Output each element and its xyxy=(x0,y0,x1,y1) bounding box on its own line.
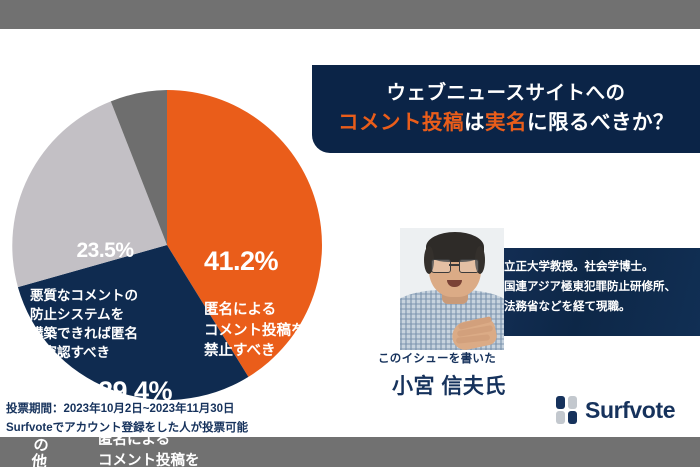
expert-profile-text: 立正大学教授。社会学博士。 国連アジア極東犯罪防止研修所、 法務省などを経て現職… xyxy=(504,258,700,317)
expert-byline: このイシューを書いた 小宮 信夫氏 xyxy=(378,350,506,400)
mark-quadrant-bottom-left xyxy=(556,411,565,424)
letterbox-top xyxy=(0,0,700,29)
voting-period-note: 投票期間：2023年10月2日~2023年11月30日 Surfvoteでアカウ… xyxy=(6,400,248,437)
title-accent-realname: 実名 xyxy=(485,111,527,134)
title-line-1: ウェブニュースサイトへの xyxy=(386,79,625,108)
byline-name: 小宮 信夫氏 xyxy=(392,370,506,400)
title-banner: ウェブニュースサイトへの コメント投稿は実名に限るべきか？ xyxy=(312,65,700,153)
surfvote-wordmark: Surfvote xyxy=(585,397,675,424)
screenshot-canvas: 41.2% 匿名による コメント投稿を 禁止すべき 29.4% 匿名による コメ… xyxy=(0,0,700,467)
photo-glasses-left xyxy=(431,259,451,273)
pie-label-lightgray: 23.5% 悪質なコメントの 防止システムを 構築できれば匿名 を容認すべき xyxy=(30,218,180,382)
photo-glasses-bridge xyxy=(449,264,459,266)
title-plain-tail: に限るべきか？ xyxy=(527,111,674,134)
title-line-2: コメント投稿は実名に限るべきか？ xyxy=(338,108,674,139)
surfvote-logo[interactable]: Surfvote xyxy=(556,396,675,424)
surfvote-mark-icon xyxy=(556,396,578,424)
title-accent-comment: コメント投稿 xyxy=(338,111,464,134)
title-plain-wa: は xyxy=(464,111,485,134)
expert-portrait-photo xyxy=(400,228,504,350)
mark-quadrant-bottom-right xyxy=(568,411,577,424)
pie-chart: 41.2% 匿名による コメント投稿を 禁止すべき 29.4% 匿名による コメ… xyxy=(12,90,322,400)
photo-glasses-right xyxy=(459,259,479,273)
mark-quadrant-top-right xyxy=(568,396,577,409)
pie-label-lightgray-pct: 23.5% xyxy=(30,238,180,264)
pie-label-orange-desc: 匿名による コメント投稿を 禁止すべき xyxy=(204,300,339,362)
byline-kicker: このイシューを書いた xyxy=(378,350,506,366)
mark-quadrant-top-left xyxy=(556,396,565,409)
pie-label-lightgray-desc: 悪質なコメントの 防止システムを 構築できれば匿名 を容認すべき xyxy=(30,286,180,363)
pie-label-orange-pct: 41.2% xyxy=(204,245,339,278)
